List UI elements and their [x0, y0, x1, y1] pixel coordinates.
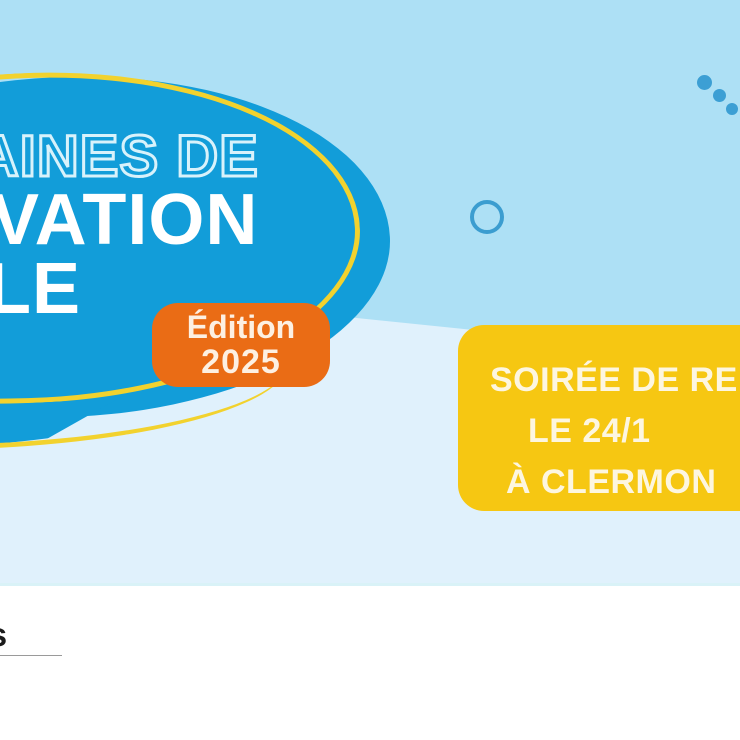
- edition-label: Édition: [187, 311, 295, 343]
- decorative-dot-icon: [726, 103, 738, 115]
- cress-subtitle-2: mie Sociale: [0, 669, 74, 679]
- event-line-2: LE 24/1: [490, 412, 740, 451]
- event-poster: RAINES DE OVATION ALE Édition 2025 SOIRÉ…: [0, 0, 740, 740]
- headline-line-1: RAINES DE: [0, 130, 354, 183]
- edition-year: 2025: [201, 345, 281, 379]
- decorative-dot-icon: [697, 75, 712, 90]
- cress-wordmark: ess: [0, 618, 74, 651]
- cress-region: hône-Alpes: [0, 683, 74, 692]
- headline-line-2: OVATION: [0, 187, 354, 253]
- cress-subtitle-1: égionale: [0, 659, 74, 669]
- poster-headline: RAINES DE OVATION ALE: [0, 130, 354, 322]
- event-details-box: SOIRÉE DE RE LE 24/1 À CLERMON: [458, 325, 740, 511]
- edition-badge: Édition 2025: [152, 303, 330, 387]
- event-line-3: À CLERMON: [490, 463, 740, 502]
- logo-cress: ess égionale mie Sociale hône-Alpes: [0, 618, 74, 692]
- decorative-ring-icon: [470, 200, 504, 234]
- event-line-1: SOIRÉE DE RE: [490, 361, 740, 400]
- partner-logos: ess égionale mie Sociale hône-Alpes + cl…: [0, 586, 740, 740]
- cress-divider: [0, 655, 62, 656]
- decorative-dot-icon: [713, 89, 726, 102]
